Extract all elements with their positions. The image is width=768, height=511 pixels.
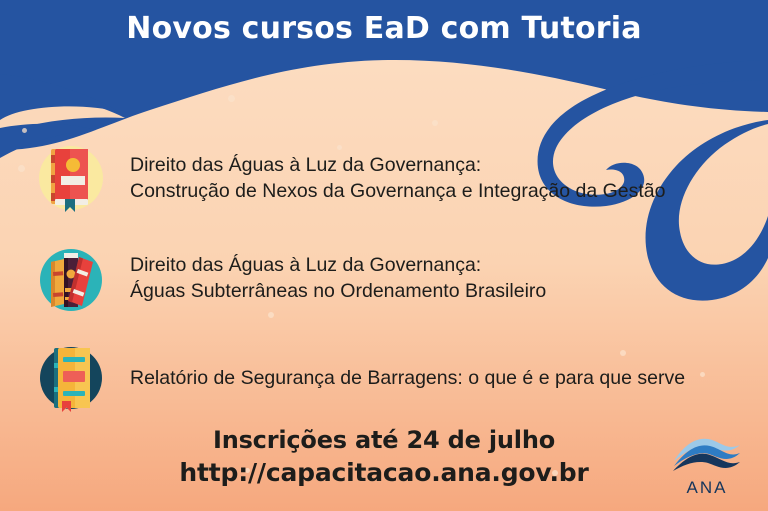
course-title-line1: Direito das Águas à Luz da Governança: xyxy=(130,254,481,276)
course-item[interactable]: Direito das Águas à Luz da Governança: Á… xyxy=(0,228,768,328)
registration-url[interactable]: http://capacitacao.ana.gov.br xyxy=(0,456,768,490)
course-title-line1: Relatório de Segurança de Barragens: o q… xyxy=(130,367,685,389)
decorative-dot xyxy=(432,120,438,126)
red-book-icon xyxy=(34,141,108,215)
decorative-dot xyxy=(228,95,235,102)
poster-title-bar: Novos cursos EaD com Tutoria xyxy=(0,0,768,56)
footer-block: Inscrições até 24 de julho http://capaci… xyxy=(0,424,768,490)
course-item[interactable]: Direito das Águas à Luz da Governança: C… xyxy=(0,128,768,228)
course-text: Relatório de Segurança de Barragens: o q… xyxy=(130,365,685,391)
course-list: Direito das Águas à Luz da Governança: C… xyxy=(0,128,768,428)
poster-canvas: Novos cursos EaD com Tutoria xyxy=(0,0,768,511)
ana-logo: ANA xyxy=(670,435,744,497)
course-title-line2: Construção de Nexos da Governança e Inte… xyxy=(130,178,666,204)
course-title-line2: Águas Subterrâneas no Ordenamento Brasil… xyxy=(130,278,546,304)
course-text: Direito das Águas à Luz da Governança: C… xyxy=(130,152,666,204)
ana-wave-mark xyxy=(670,435,744,477)
course-title-line1: Direito das Águas à Luz da Governança: xyxy=(130,154,481,176)
course-text: Direito das Águas à Luz da Governança: Á… xyxy=(130,252,546,304)
ana-wordmark: ANA xyxy=(670,478,744,498)
yellow-notebook-icon xyxy=(34,341,108,415)
poster-title: Novos cursos EaD com Tutoria xyxy=(126,11,641,46)
course-item[interactable]: Relatório de Segurança de Barragens: o q… xyxy=(0,328,768,428)
three-books-icon xyxy=(34,241,108,315)
registration-deadline: Inscrições até 24 de julho xyxy=(0,424,768,456)
